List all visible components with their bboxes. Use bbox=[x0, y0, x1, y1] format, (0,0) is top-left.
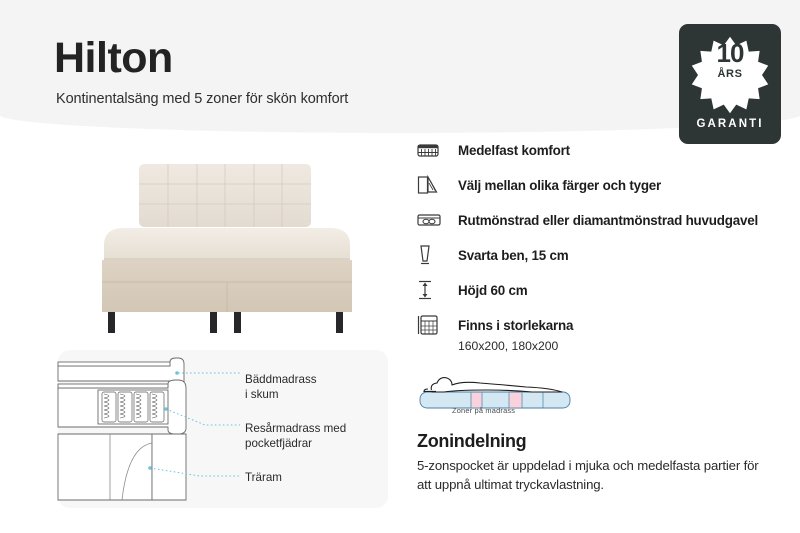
zone-heading: Zonindelning bbox=[417, 431, 526, 452]
infographic-page: Hilton Kontinentalsäng med 5 zoner för s… bbox=[0, 0, 800, 533]
zone-figure-caption: Zoner på madrass bbox=[452, 406, 515, 415]
cross-section-label-frame: Träram bbox=[245, 470, 282, 485]
cross-section-label-spring: Resårmadrass medpocketfjädrar bbox=[245, 421, 346, 451]
cross-section-diagram bbox=[0, 0, 800, 533]
cross-section-label-topper: Bäddmadrassi skum bbox=[245, 372, 317, 402]
zone-body-text: 5-zonspocket är uppdelad i mjuka och med… bbox=[417, 456, 767, 494]
zone-figure-illustration bbox=[414, 364, 579, 424]
